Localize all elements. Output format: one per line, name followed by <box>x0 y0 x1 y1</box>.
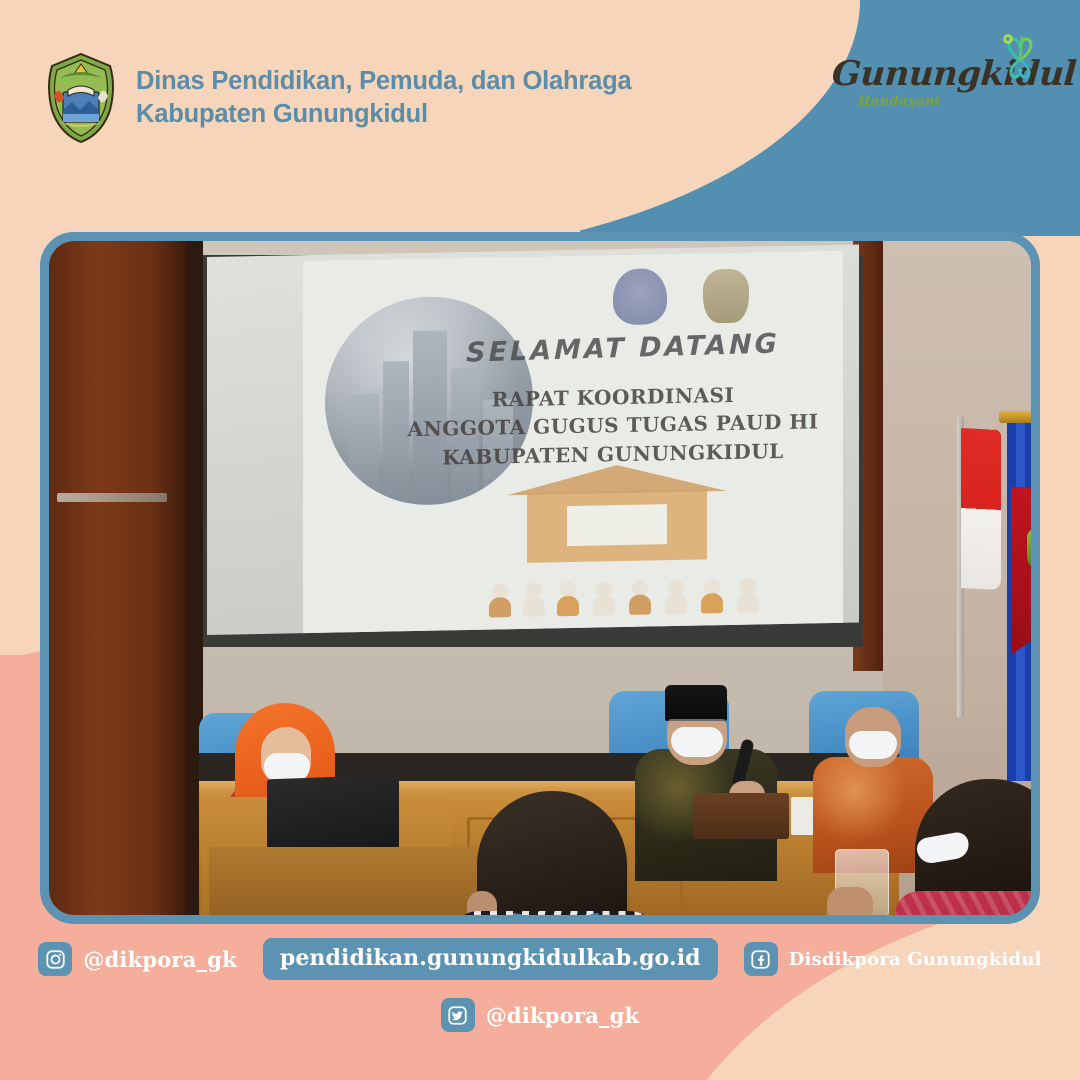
table-podium-box <box>693 793 789 839</box>
face-mask-icon <box>671 727 723 757</box>
peci-cap-icon <box>665 685 727 721</box>
slide-logos <box>603 266 763 329</box>
gunungkidul-regency-crest-icon <box>44 52 118 144</box>
facebook-link[interactable]: Disdikpora Gunungkidul <box>744 942 1042 976</box>
kabupaten-crest-logo-icon <box>703 269 749 324</box>
organization-title: Dinas Pendidikan, Pemuda, dan Olahraga K… <box>136 65 631 130</box>
facebook-page-name: Disdikpora Gunungkidul <box>789 949 1042 970</box>
instagram-link[interactable]: @dikpora_gk <box>38 942 237 976</box>
gunungkidul-regency-logo: Gunungkidul Handayani <box>832 44 1044 130</box>
instagram-icon[interactable] <box>38 942 72 976</box>
poster-header: Dinas Pendidikan, Pemuda, dan Olahraga K… <box>0 0 1080 232</box>
org-title-line-2: Kabupaten Gunungkidul <box>136 98 631 131</box>
slide-school-house-icon <box>527 489 707 562</box>
social-footer: @dikpora_gk pendidikan.gunungkidulkab.go… <box>0 924 1080 1080</box>
presentation-slide: SELAMAT DATANG RAPAT KOORDINASI ANGGOTA … <box>303 251 843 633</box>
brand-lockup: Dinas Pendidikan, Pemuda, dan Olahraga K… <box>44 52 631 144</box>
tut-wuri-handayani-logo-icon <box>613 268 667 325</box>
twitter-icon[interactable] <box>441 998 475 1032</box>
slide-illustration <box>431 488 791 619</box>
event-photo-card: SELAMAT DATANG RAPAT KOORDINASI ANGGOTA … <box>40 232 1040 924</box>
instagram-handle: @dikpora_gk <box>83 947 237 972</box>
person-foreground-right-body <box>895 891 1031 915</box>
event-photo: SELAMAT DATANG RAPAT KOORDINASI ANGGOTA … <box>49 241 1031 915</box>
curtain-rod <box>999 411 1031 423</box>
facebook-icon[interactable] <box>744 942 778 976</box>
projection-screen: SELAMAT DATANG RAPAT KOORDINASI ANGGOTA … <box>207 244 859 635</box>
slide-title-block: RAPAT KOORDINASI ANGGOTA GUGUS TUGAS PAU… <box>383 379 843 473</box>
twitter-handle: @dikpora_gk <box>486 1003 640 1028</box>
twitter-link[interactable]: @dikpora_gk <box>441 998 640 1032</box>
butterfly-swirl-icon <box>992 30 1048 86</box>
indonesia-flag-icon <box>961 428 1001 590</box>
footer-row-secondary: @dikpora_gk <box>0 998 1080 1032</box>
face-mask-icon <box>849 731 897 759</box>
footer-row-primary: @dikpora_gk pendidikan.gunungkidulkab.go… <box>0 938 1080 980</box>
poster-canvas: Dinas Pendidikan, Pemuda, dan Olahraga K… <box>0 0 1080 1080</box>
website-url-badge[interactable]: pendidikan.gunungkidulkab.go.id <box>263 938 718 980</box>
org-title-line-1: Dinas Pendidikan, Pemuda, dan Olahraga <box>136 65 631 98</box>
person-foreground-left-body <box>449 911 659 915</box>
regency-tagline: Handayani <box>858 94 941 109</box>
wall-wood-panel-left <box>49 241 187 915</box>
person-foreground-right-hand <box>827 887 873 915</box>
